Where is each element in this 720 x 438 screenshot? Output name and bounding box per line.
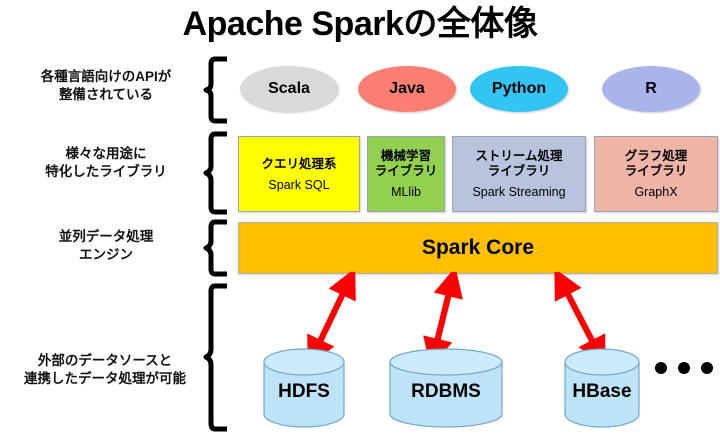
page-title: Apache Sparkの全体像 [0,2,720,46]
language-label: Java [389,80,425,98]
library-en-name: GraphX [634,185,677,199]
side-label-core-line2: エンジン [8,246,204,264]
library-jp-line2: ライブラリ [375,164,438,179]
side-label-lib-line2: 特化したライブラリ [8,163,204,181]
library-jp-line2: ライブラリ [625,164,688,179]
side-label-external-sources: 外部のデータソースと 連携したデータ処理が可能 [4,352,206,388]
ellipsis-dot [678,362,690,374]
side-label-core-line1: 並列データ処理 [8,228,204,246]
side-label-ext-line1: 外部のデータソースと [4,352,206,370]
library-en-name: Spark Streaming [472,185,565,199]
language-ellipse-python[interactable]: Python [470,66,568,112]
language-ellipse-java[interactable]: Java [358,66,456,112]
spark-core-label: Spark Core [422,236,534,260]
library-box-mllib[interactable]: 機械学習 ライブラリ MLlib [367,136,445,212]
language-ellipse-scala[interactable]: Scala [240,66,338,112]
datasource-cylinder-hdfs[interactable]: HDFS [262,348,346,428]
curly-brace-icon-external [203,283,229,433]
library-jp-line1: グラフ処理 [625,149,688,164]
library-jp-line2: ライブラリ [488,164,551,179]
side-label-libraries: 様々な用途に 特化したライブラリ [8,145,204,181]
library-en-name: Spark SQL [268,178,329,192]
side-label-ext-line2: 連携したデータ処理が可能 [4,370,206,388]
library-box-spark-sql[interactable]: クエリ処理系 Spark SQL [238,136,360,212]
library-en-name: MLlib [391,185,421,199]
library-jp-line1: クエリ処理系 [261,157,336,172]
language-label: R [645,80,657,98]
side-label-api-line2: 整備されている [8,86,204,104]
library-jp-line1: 機械学習 [381,149,431,164]
ellipsis-dot [655,362,667,374]
side-label-api: 各種言語向けのAPIが 整備されている [8,68,204,104]
curly-brace-icon-core [203,219,229,277]
ellipsis-dot [701,362,713,374]
language-label: Scala [268,80,310,98]
side-label-api-line1: 各種言語向けのAPIが [8,68,204,86]
spark-core-bar[interactable]: Spark Core [238,222,718,274]
library-box-graphx[interactable]: グラフ処理 ライブラリ GraphX [594,136,718,212]
library-jp-line1: ストリーム処理 [475,149,562,164]
curly-brace-icon-libraries [203,131,229,215]
library-box-spark-streaming[interactable]: ストリーム処理 ライブラリ Spark Streaming [452,136,586,212]
language-label: Python [492,80,546,98]
datasource-cylinder-hbase[interactable]: HBase [563,348,641,428]
ellipsis-dots-icon [655,362,713,374]
diagram-canvas: Apache Sparkの全体像 各種言語向けのAPIが 整備されている 様々な… [0,0,720,438]
language-ellipse-r[interactable]: R [602,66,700,112]
side-label-lib-line1: 様々な用途に [8,145,204,163]
side-label-core: 並列データ処理 エンジン [8,228,204,264]
curly-brace-icon-api [203,56,229,124]
datasource-cylinder-rdbms[interactable]: RDBMS [388,348,504,428]
